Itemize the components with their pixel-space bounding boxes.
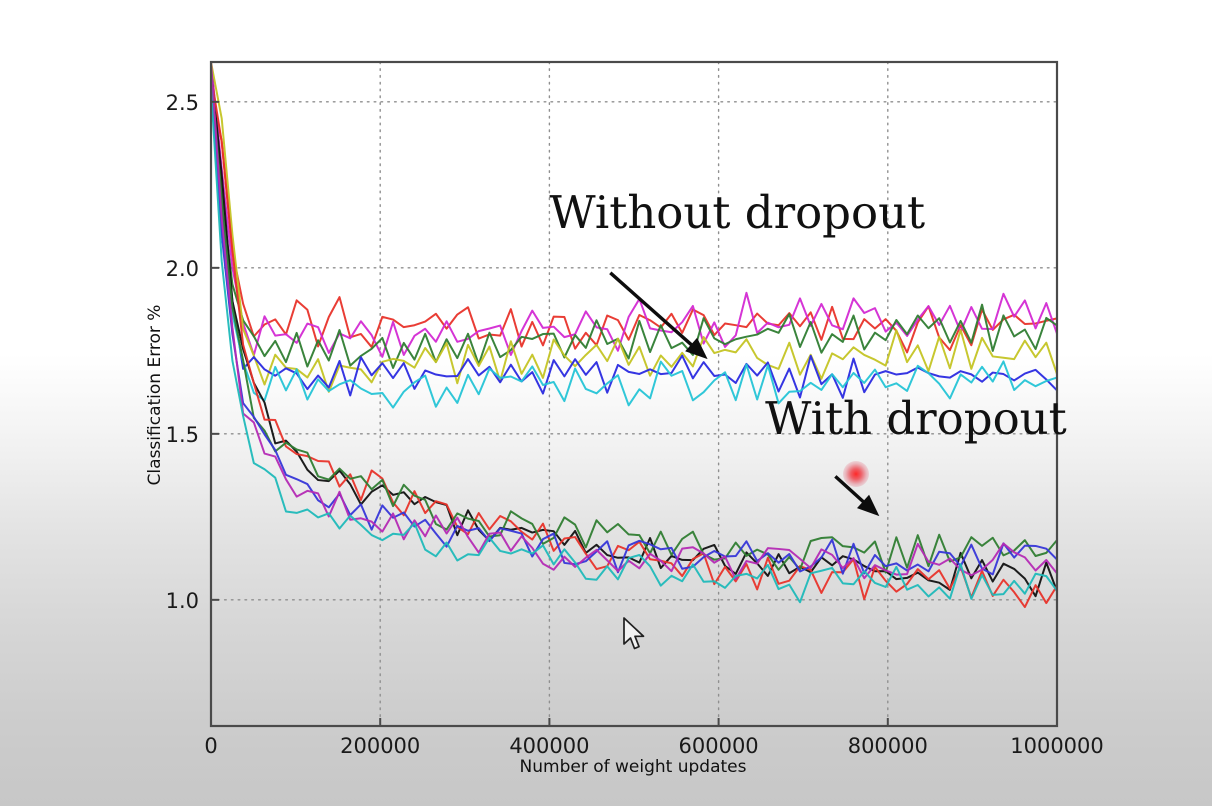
series-with-dropout-magenta <box>211 62 1057 579</box>
annotation-label-with-dropout: With dropout <box>765 392 1067 445</box>
x-tick-label: 0 <box>204 734 217 758</box>
x-tick-label: 400000 <box>509 734 589 758</box>
screenshot-root: 02000004000006000008000001000000 1.01.52… <box>0 0 1212 806</box>
y-tick-label: 1.5 <box>166 423 199 447</box>
chart-figure: 02000004000006000008000001000000 1.01.52… <box>0 0 1212 806</box>
series-curves <box>211 62 1057 607</box>
y-axis-title: Classification Error % <box>145 305 165 486</box>
y-tick-label: 2.5 <box>166 91 199 115</box>
classification-error-line-chart: 02000004000006000008000001000000 1.01.52… <box>0 0 1212 806</box>
series-with-dropout-teal <box>211 89 1057 603</box>
y-tick-labels: 1.01.52.02.5 <box>166 91 199 613</box>
x-tick-label: 1000000 <box>1010 734 1104 758</box>
y-tick-label: 1.0 <box>166 589 199 613</box>
series-without-dropout-cyan <box>211 82 1057 408</box>
x-tick-label: 600000 <box>679 734 759 758</box>
annotation-label-without-dropout: Without dropout <box>549 186 925 239</box>
annotation-arrow-with-dropout <box>835 476 866 504</box>
x-axis-title: Number of weight updates <box>520 757 747 777</box>
x-tick-label: 800000 <box>848 734 928 758</box>
y-tick-label: 2.0 <box>166 257 199 281</box>
x-tick-label: 200000 <box>340 734 420 758</box>
x-tick-labels: 02000004000006000008000001000000 <box>204 734 1103 758</box>
